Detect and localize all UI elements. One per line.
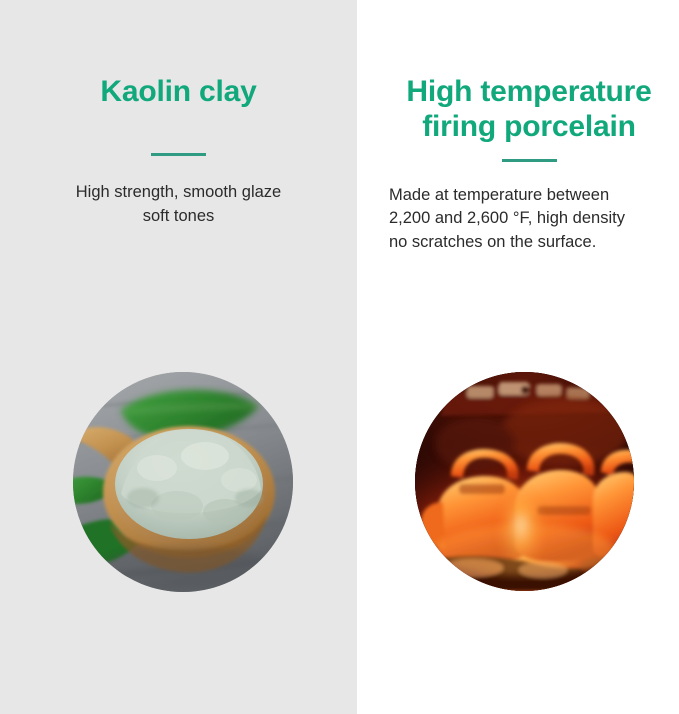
divider-rule (151, 153, 206, 156)
kiln-firing-photo-graphic (415, 372, 634, 591)
heading-divider (0, 153, 357, 156)
feature-comparison-board: Kaolin clay High strength, smooth glaze … (0, 0, 679, 714)
page-title: High temperature firing porcelain (357, 0, 679, 145)
page-title: Kaolin clay (0, 0, 357, 109)
kaolin-clay-powder-photo (73, 372, 293, 592)
heading-divider (357, 159, 679, 162)
kiln-firing-porcelain-photo (415, 372, 634, 591)
feature-panel-kaolin-clay: Kaolin clay High strength, smooth glaze … (0, 0, 357, 714)
feature-description: High strength, smooth glaze soft tones (0, 181, 357, 228)
kaolin-clay-photo-graphic (73, 372, 293, 592)
divider-rule (502, 159, 557, 162)
feature-description: Made at temperature between 2,200 and 2,… (357, 184, 679, 254)
feature-panel-high-temperature-firing: High temperature firing porcelain Made a… (357, 0, 679, 714)
